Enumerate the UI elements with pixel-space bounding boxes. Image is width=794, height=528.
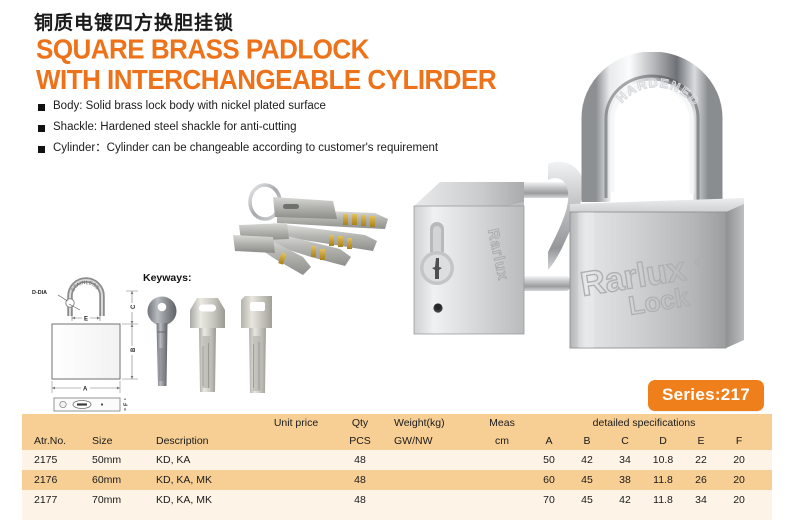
- cell-size: 70mm: [84, 490, 146, 510]
- feature-list: Body: Solid brass lock body with nickel …: [38, 100, 438, 163]
- key-bunch-image: [225, 183, 410, 283]
- label-c: C: [131, 304, 137, 309]
- key-square-head: [241, 296, 272, 393]
- cell-spec-a: 60: [530, 470, 568, 490]
- cell-spec-b: 42: [568, 450, 606, 470]
- padlock-side-view-image: Rarlux: [400, 168, 570, 358]
- header-spacer: [22, 414, 84, 432]
- page-title-line-1: SQUARE BRASS PADLOCK: [36, 34, 369, 65]
- key-round-head: [148, 297, 177, 387]
- label-e: E: [84, 316, 88, 322]
- page-title: SQUARE BRASS PADLOCK WITH INTERCHANGEABL…: [36, 35, 496, 95]
- cell-spec-f: 20: [720, 470, 758, 490]
- square-bullet-icon: [38, 104, 45, 111]
- header-qty-pcs: PCS: [336, 432, 384, 450]
- cell-atr-no: 2177: [22, 490, 84, 510]
- table-header-row-bottom: Atr.No. Size Description PCS GW/NW cm A …: [22, 432, 772, 450]
- header-weight-gwnw: GW/NW: [384, 432, 474, 450]
- header-spacer: [146, 414, 256, 432]
- header-meas: Meas: [474, 414, 530, 432]
- header-spec-d: D: [644, 432, 682, 450]
- header-spec-f: F: [720, 432, 758, 450]
- cell-description: KD, KA, MK: [146, 490, 256, 510]
- square-bullet-icon: [38, 146, 45, 153]
- label-a: A: [83, 387, 88, 393]
- feature-text: Body: Solid brass lock body with nickel …: [53, 100, 326, 113]
- cell-qty: 48: [336, 490, 384, 510]
- cell-spacer: [758, 450, 772, 470]
- list-item: Shackle: Hardened steel shackle for anti…: [38, 121, 438, 134]
- cell-atr-no: 2175: [22, 450, 84, 470]
- cell-description: KD, KA, MK: [146, 470, 256, 490]
- cell-size: 60mm: [84, 470, 146, 490]
- header-detailed-specifications: detailed specifications: [530, 414, 758, 432]
- header-description: Description: [146, 432, 256, 450]
- cell-qty: 48: [336, 470, 384, 490]
- technical-dimension-drawing: STAINLESS D-DIA E C: [28, 268, 163, 413]
- header-unit-price: Unit price: [256, 414, 336, 432]
- cell-weight: [384, 470, 474, 490]
- cell-spec-a: 50: [530, 450, 568, 470]
- cell-spec-b: 45: [568, 470, 606, 490]
- keyway-samples-image: [145, 288, 275, 393]
- cell-unit-price: [256, 450, 336, 470]
- cell-spec-d: 10.8: [644, 450, 682, 470]
- feature-text: Cylinder：Cylinder can be changeable acco…: [53, 142, 438, 155]
- list-item: Body: Solid brass lock body with nickel …: [38, 100, 438, 113]
- header-qty: Qty: [336, 414, 384, 432]
- table-header-row-top: Unit price Qty Weight(kg) Meas detailed …: [22, 414, 772, 432]
- cell-spec-c: 38: [606, 470, 644, 490]
- header-spec-e: E: [682, 432, 720, 450]
- cell-meas: [474, 470, 530, 490]
- table-row: 2177 70mm KD, KA, MK 48 70 45 42 11.8 34…: [22, 490, 772, 510]
- header-spec-c: C: [606, 432, 644, 450]
- cell-meas: [474, 490, 530, 510]
- header-spacer: [256, 432, 336, 450]
- chinese-product-title: 铜质电镀四方换胆挂锁: [34, 8, 234, 35]
- lock-body-side: [726, 204, 744, 348]
- product-datasheet: 铜质电镀四方换胆挂锁 SQUARE BRASS PADLOCK WITH INT…: [0, 0, 794, 528]
- header-size: Size: [84, 432, 146, 450]
- footer-strip: [22, 510, 772, 520]
- cell-meas: [474, 450, 530, 470]
- header-weight: Weight(kg): [384, 414, 474, 432]
- cell-spec-c: 34: [606, 450, 644, 470]
- header-spacer: [758, 432, 772, 450]
- cell-spec-b: 45: [568, 490, 606, 510]
- cell-spacer: [758, 470, 772, 490]
- table-footer-strip: [22, 510, 772, 520]
- cell-description: KD, KA: [146, 450, 256, 470]
- cell-spec-f: 20: [720, 450, 758, 470]
- cell-spec-e: 22: [682, 450, 720, 470]
- key-hex-head: [190, 298, 225, 392]
- cell-spec-d: 11.8: [644, 470, 682, 490]
- header-spec-b: B: [568, 432, 606, 450]
- key-head: [233, 235, 275, 253]
- label-b: B: [131, 347, 137, 352]
- label-f: F: [124, 402, 130, 406]
- header-atr-no: Atr.No.: [22, 432, 84, 450]
- padlock-main-image: HARDENED Rarlux Lock ®: [548, 52, 788, 387]
- list-item: Cylinder：Cylinder can be changeable acco…: [38, 142, 438, 155]
- label-d-dia: D-DIA: [32, 290, 47, 296]
- header-meas-cm: cm: [474, 432, 530, 450]
- cell-spec-f: 20: [720, 490, 758, 510]
- page-title-line-2: WITH INTERCHANGEABLE CYLIRDER: [36, 65, 496, 95]
- table-row: 2176 60mm KD, KA, MK 48 60 45 38 11.8 26…: [22, 470, 772, 490]
- table-row: 2175 50mm KD, KA 48 50 42 34 10.8 22 20: [22, 450, 772, 470]
- cell-spec-e: 26: [682, 470, 720, 490]
- specifications-table: Unit price Qty Weight(kg) Meas detailed …: [22, 414, 772, 520]
- cell-weight: [384, 490, 474, 510]
- header-spacer: [758, 414, 772, 432]
- cylinder-body: [273, 197, 337, 219]
- feature-text: Shackle: Hardened steel shackle for anti…: [53, 121, 297, 134]
- cell-atr-no: 2176: [22, 470, 84, 490]
- square-bullet-icon: [38, 125, 45, 132]
- cell-weight: [384, 450, 474, 470]
- status-badge: Series:217: [648, 380, 764, 411]
- cell-unit-price: [256, 470, 336, 490]
- cell-size: 50mm: [84, 450, 146, 470]
- cell-spec-c: 42: [606, 490, 644, 510]
- cell-qty: 48: [336, 450, 384, 470]
- header-spacer: [84, 414, 146, 432]
- cell-unit-price: [256, 490, 336, 510]
- keyways-label: Keyways:: [143, 272, 191, 284]
- cell-spacer: [758, 490, 772, 510]
- cell-spec-d: 11.8: [644, 490, 682, 510]
- cell-spec-e: 34: [682, 490, 720, 510]
- header-spec-a: A: [530, 432, 568, 450]
- cell-spec-a: 70: [530, 490, 568, 510]
